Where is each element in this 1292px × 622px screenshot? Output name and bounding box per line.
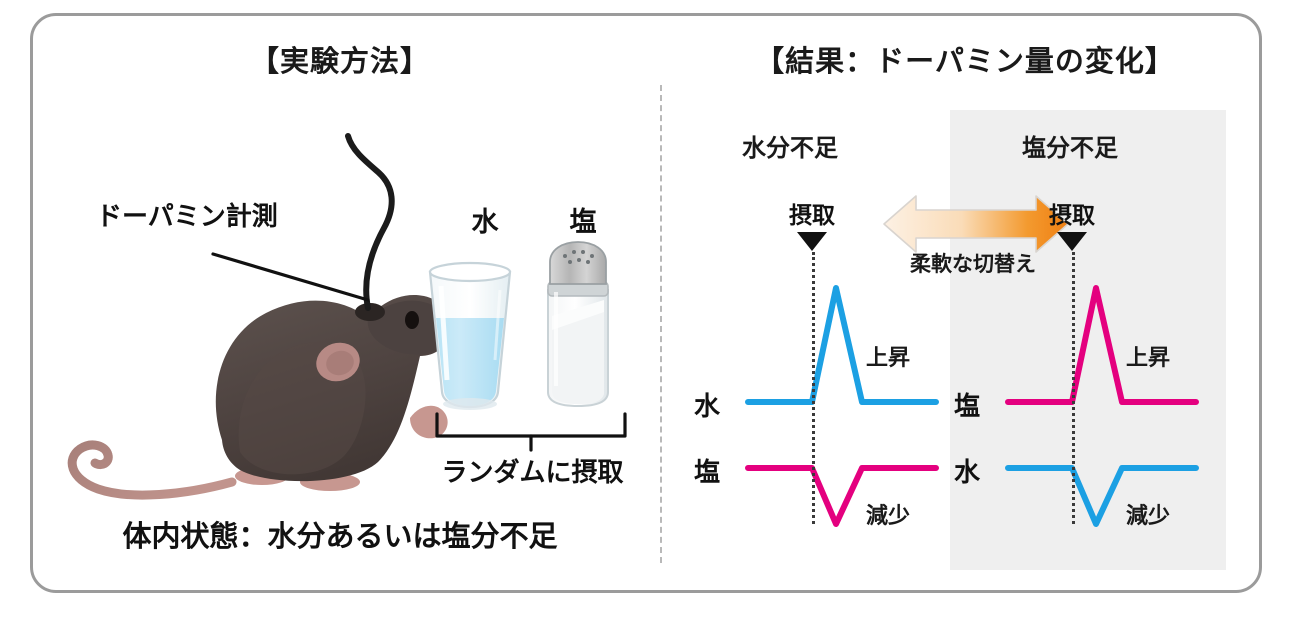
ingest-marker-label-right: 摂取 bbox=[1022, 196, 1122, 230]
stimulus-label-water: 水 bbox=[450, 200, 520, 239]
trace-label-left-top: 水 bbox=[660, 386, 720, 423]
left-section-title: 【実験方法】 bbox=[150, 38, 530, 80]
body-state-caption: 体内状態：水分あるいは塩分不足 bbox=[50, 513, 630, 555]
stimulus-label-salt: 塩 bbox=[548, 200, 618, 239]
salt-deficiency-shaded-region bbox=[950, 110, 1226, 570]
ingest-timeline-right bbox=[1072, 252, 1075, 524]
annotation-decrease-left: 減少 bbox=[866, 498, 910, 530]
right-section-title: 【結果：ドーパミン量の変化】 bbox=[700, 38, 1230, 80]
trace-label-left-bottom: 塩 bbox=[660, 452, 720, 489]
annotation-increase-left: 上昇 bbox=[866, 340, 910, 372]
trace-label-right-bottom: 水 bbox=[920, 452, 980, 489]
ingest-triangle-left bbox=[797, 232, 827, 251]
annotation-increase-right: 上昇 bbox=[1126, 340, 1170, 372]
probe-label: ドーパミン計測 bbox=[96, 196, 278, 233]
ingest-marker-label-left: 摂取 bbox=[762, 196, 862, 230]
condition-label-water-deficiency: 水分不足 bbox=[700, 128, 880, 163]
annotation-decrease-right: 減少 bbox=[1126, 498, 1170, 530]
section-divider bbox=[660, 85, 662, 563]
flexible-switch-label: 柔軟な切替え bbox=[878, 248, 1068, 278]
ingest-timeline-left bbox=[812, 252, 815, 524]
random-intake-label: ランダムに摂取 bbox=[400, 452, 665, 489]
trace-label-right-top: 塩 bbox=[920, 386, 980, 423]
condition-label-salt-deficiency: 塩分不足 bbox=[980, 128, 1160, 163]
